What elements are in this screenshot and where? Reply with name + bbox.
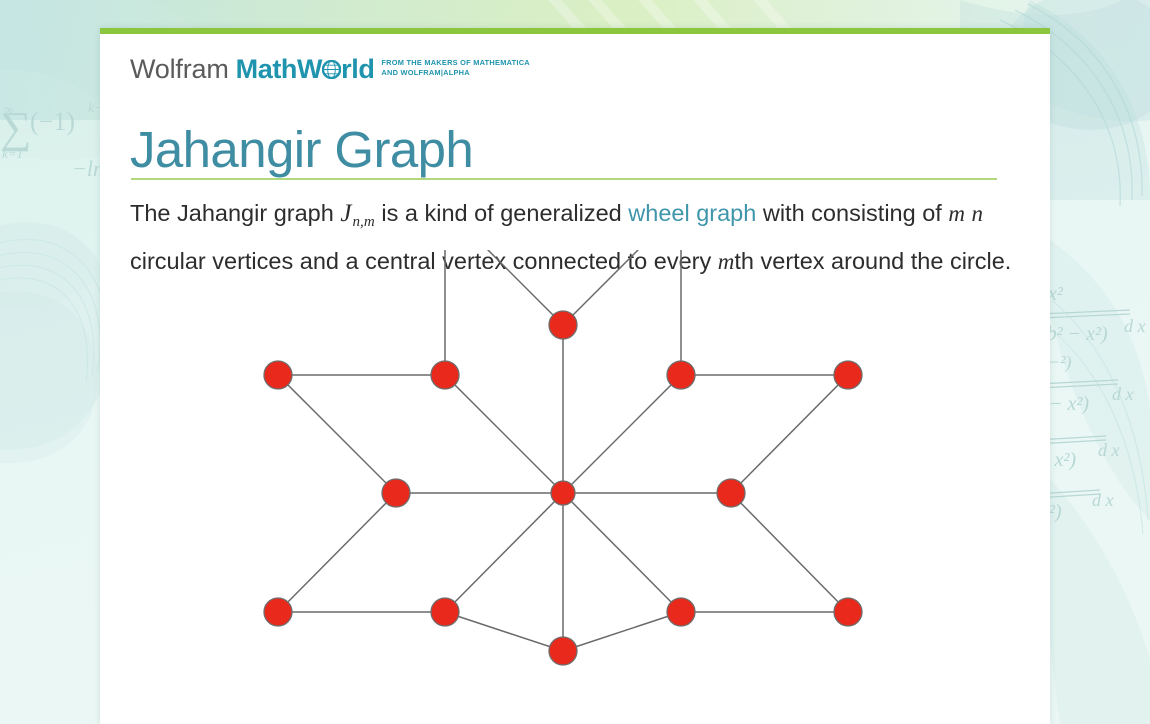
globe-icon — [322, 55, 341, 74]
svg-text:d x: d x — [1112, 384, 1134, 404]
graph-vertex-spoke-right — [717, 479, 745, 507]
graph-edge — [445, 493, 563, 612]
intro-text-a: The Jahangir graph — [130, 200, 340, 226]
graph-edge — [445, 612, 563, 651]
graph-edge — [563, 250, 681, 325]
graph-vertex-mid-left-out — [264, 361, 292, 389]
svg-text:(−1): (−1) — [30, 107, 75, 136]
svg-text:d x: d x — [1098, 440, 1120, 460]
graph-vertex-spoke-down — [549, 637, 577, 665]
graph-vertex-low-left-out — [264, 598, 292, 626]
graph-vertex-low-left-in — [431, 598, 459, 626]
svg-text:∑: ∑ — [0, 103, 31, 152]
graph-vertex-spoke-left — [382, 479, 410, 507]
intro-line-1: The Jahangir graph Jn,m is a kind of gen… — [130, 194, 1010, 242]
graph-vertex-low-right-in — [667, 598, 695, 626]
logo-rld-part: rld — [341, 54, 374, 84]
logo-tagline: FROM THE MAKERS OF MATHEMATICA AND WOLFR… — [381, 58, 529, 77]
graph-vertex-low-right-out — [834, 598, 862, 626]
math-n-1: n — [972, 201, 984, 226]
graph-edge — [731, 375, 848, 493]
graph-edge — [731, 493, 848, 612]
svg-text:k=1: k=1 — [2, 146, 23, 161]
tagline-wolframalpha: WOLFRAM|ALPHA — [401, 68, 470, 77]
graph-edge — [278, 375, 396, 493]
graph-edge — [445, 250, 563, 325]
tagline-line1-plain: FROM THE MAKERS OF — [381, 58, 473, 67]
page-title: Jahangir Graph — [130, 119, 473, 181]
graph-edges — [278, 250, 848, 651]
graph-vertex-mid-left-in — [431, 361, 459, 389]
graph-edge — [278, 493, 396, 612]
graph-vertex-spoke-up — [549, 311, 577, 339]
logo-mathworld-text: MathW rld — [236, 54, 375, 84]
math-m-1: m — [948, 201, 965, 226]
graph-vertex-center — [551, 481, 575, 505]
graph-vertex-mid-right-out — [834, 361, 862, 389]
logo-mathw-part: MathW — [236, 54, 322, 84]
svg-text:(b² − x²): (b² − x²) — [1040, 323, 1108, 345]
graph-edge — [563, 493, 681, 612]
math-J: J — [340, 200, 352, 227]
title-divider — [131, 178, 997, 180]
graph-edge — [563, 375, 681, 493]
card-accent-bar — [100, 28, 1050, 34]
site-logo[interactable]: Wolfram MathW rld FROM THE MAKERS OF MAT… — [130, 54, 530, 88]
svg-text:−²): −²) — [1048, 352, 1072, 373]
math-J-subscript: n,m — [352, 214, 374, 230]
logo-wolfram-text: Wolfram — [130, 54, 229, 84]
content-card: Wolfram MathW rld FROM THE MAKERS OF MAT… — [100, 28, 1050, 724]
tagline-mathematica: MATHEMATICA — [473, 58, 530, 67]
tagline-line2-plain: AND — [381, 68, 400, 77]
intro-text-b: is a kind of generalized — [375, 200, 628, 226]
svg-text:d x: d x — [1092, 490, 1114, 510]
link-wheel-graph[interactable]: wheel graph — [628, 200, 756, 226]
graph-vertex-mid-right-in — [667, 361, 695, 389]
jahangir-graph-figure — [100, 250, 1050, 724]
graph-edge — [563, 612, 681, 651]
svg-text:d x: d x — [1124, 316, 1146, 336]
intro-text-c: with consisting of — [756, 200, 948, 226]
graph-edge — [445, 375, 563, 493]
